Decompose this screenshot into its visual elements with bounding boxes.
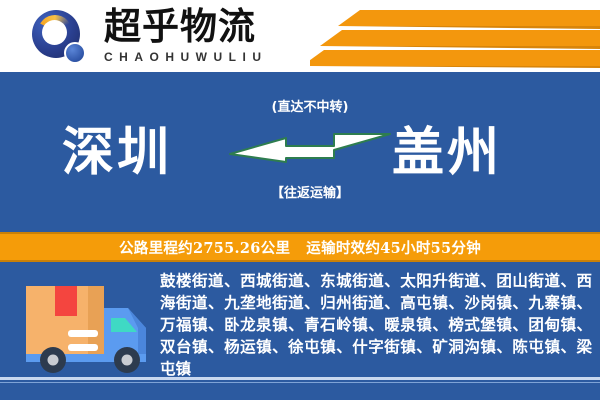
- origin-city: 深圳: [62, 110, 172, 185]
- logo-inner-hole: [42, 20, 67, 45]
- delivery-truck-icon: [22, 278, 152, 378]
- road-line-shadow: [0, 382, 600, 383]
- company-logo: [30, 8, 98, 66]
- road-line-highlight: [0, 377, 600, 380]
- duration-label: 运输时效约45小时55分钟: [306, 237, 481, 258]
- brand-name-cn: 超乎物流: [104, 6, 319, 48]
- route-info-bar: 公路里程约2755.26公里 运输时效约45小时55分钟: [0, 232, 600, 262]
- brand-name-en: CHAOHUWULIU: [104, 50, 319, 64]
- coverage-areas-text: 鼓楼街道、西城街道、东城街道、太阳升街道、团山街道、西海街道、九垄地街道、归州街…: [160, 270, 592, 380]
- route-arrow-group: (直达不中转) 【往返运输】: [236, 96, 384, 208]
- destination-city: 盖州: [392, 110, 502, 185]
- logo-dot-icon: [64, 42, 86, 64]
- direct-shipping-note: (直达不中转): [236, 96, 384, 115]
- route-panel: 深圳 (直达不中转) 【往返运输】 盖州: [0, 72, 600, 232]
- round-trip-note: 【往返运输】: [236, 182, 384, 201]
- banner-header: 超乎物流 CHAOHUWULIU: [0, 0, 600, 72]
- brand-block: 超乎物流 CHAOHUWULIU: [104, 6, 319, 64]
- speed-stripes-decoration: [310, 6, 600, 68]
- coverage-panel: 鼓楼街道、西城街道、东城街道、太阳升街道、团山街道、西海街道、九垄地街道、归州街…: [0, 262, 600, 400]
- logistics-route-banner: 超乎物流 CHAOHUWULIU 深圳 (直达不中转) 【往返运输】 盖州 公路…: [0, 0, 600, 400]
- distance-label: 公路里程约2755.26公里: [119, 237, 290, 258]
- double-headed-arrow-icon: [228, 126, 392, 164]
